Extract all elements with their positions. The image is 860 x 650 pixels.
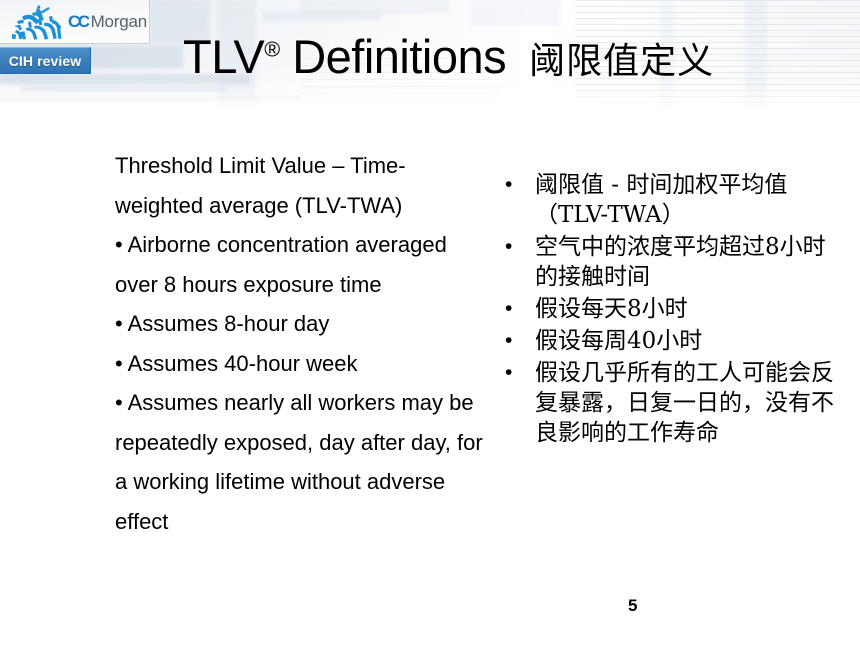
chinese-bullet-text: 假设几乎所有的工人可能会反复暴露，日复一日的，没有不良影响的工作寿命 — [535, 358, 848, 448]
page-title-chinese: 阈限值定义 — [529, 44, 714, 80]
list-item: • 空气中的浓度平均超过8小时的接触时间 — [498, 232, 848, 292]
chinese-bullet-text: 假设每天8小时 — [535, 294, 848, 324]
registered-trademark-symbol: ® — [264, 36, 279, 61]
english-paragraph: • Assumes nearly all workers may be repe… — [115, 383, 487, 541]
page-title-english-tail: Definitions — [280, 30, 507, 83]
page-title-english-main: TLV — [183, 30, 264, 83]
page-number: 5 — [628, 596, 637, 616]
ccmorgan-chariot-logo-icon — [8, 2, 66, 42]
list-item: • 假设每周40小时 — [498, 326, 848, 356]
english-paragraph: Threshold Limit Value – Time-weighted av… — [115, 146, 487, 225]
slide: CCMorgan CIH review TLV® Definitions 阈限值… — [0, 0, 860, 650]
bullet-icon: • — [498, 170, 535, 200]
chinese-bullet-text: 假设每周40小时 — [535, 326, 848, 356]
list-item: • 假设每天8小时 — [498, 294, 848, 324]
chinese-bullet-text: 空气中的浓度平均超过8小时的接触时间 — [535, 232, 848, 292]
english-paragraph: • Airborne concentration averaged over 8… — [115, 225, 487, 304]
brand-logo-panel: CCMorgan — [0, 0, 150, 44]
bullet-icon: • — [498, 326, 535, 356]
english-content-column: Threshold Limit Value – Time-weighted av… — [115, 146, 487, 541]
brand-logo-text: CCMorgan — [68, 12, 147, 32]
page-title-english: TLV® Definitions — [183, 33, 506, 80]
bullet-icon: • — [498, 294, 535, 324]
cih-review-badge[interactable]: CIH review — [0, 47, 91, 74]
english-paragraph: • Assumes 40-hour week — [115, 344, 487, 384]
chinese-content-column: • 阈限值 - 时间加权平均值（TLV-TWA） • 空气中的浓度平均超过8小时… — [498, 170, 848, 450]
bullet-icon: • — [498, 358, 535, 388]
logo-morgan-text: Morgan — [91, 12, 147, 31]
page-title: TLV® Definitions 阈限值定义 — [183, 33, 714, 95]
list-item: • 假设几乎所有的工人可能会反复暴露，日复一日的，没有不良影响的工作寿命 — [498, 358, 848, 448]
bullet-icon: • — [498, 232, 535, 262]
list-item: • 阈限值 - 时间加权平均值（TLV-TWA） — [498, 170, 848, 230]
chinese-bullet-text: 阈限值 - 时间加权平均值（TLV-TWA） — [535, 170, 848, 230]
english-paragraph: • Assumes 8-hour day — [115, 304, 487, 344]
logo-cc-text: CC — [68, 12, 88, 31]
cih-review-badge-label: CIH review — [9, 53, 82, 69]
